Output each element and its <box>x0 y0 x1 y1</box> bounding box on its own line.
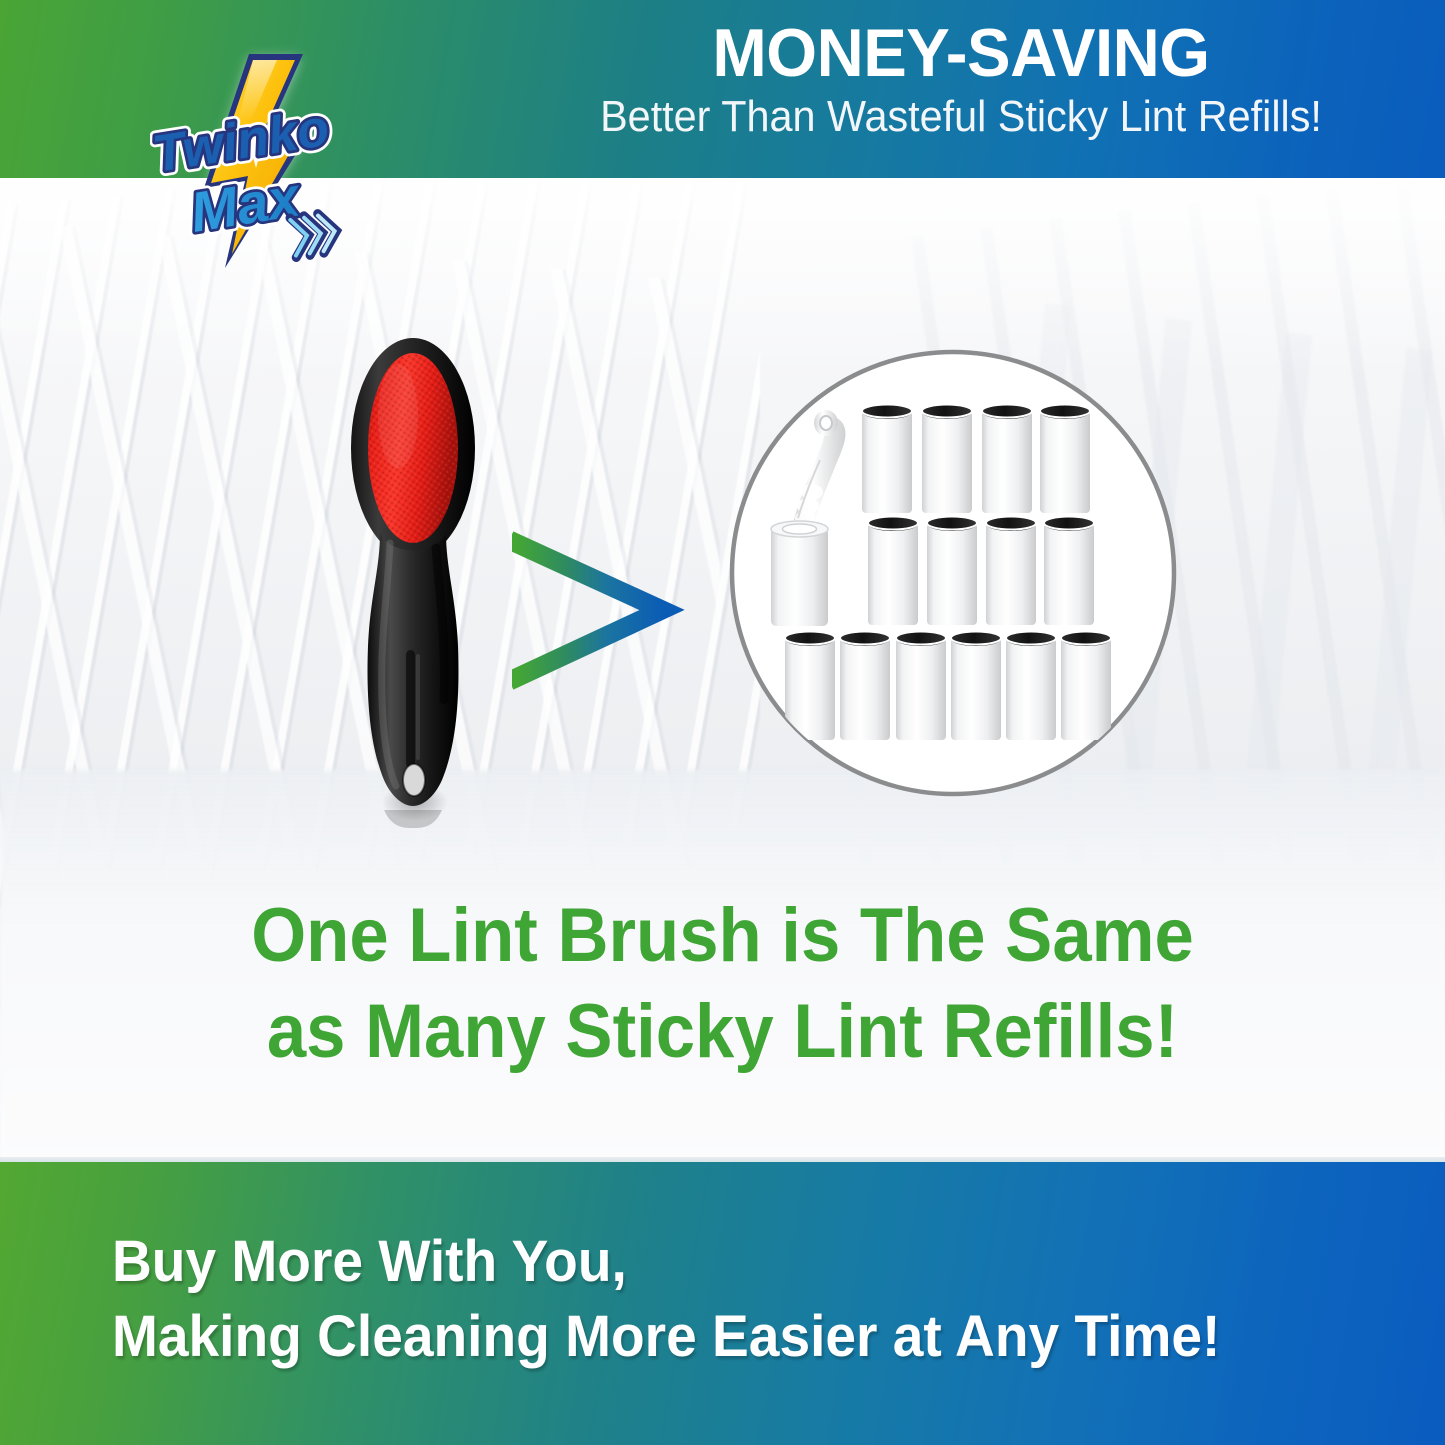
refill-roll <box>951 632 1001 741</box>
header-title: MONEY-SAVING <box>553 18 1369 89</box>
refills-circle-icon <box>728 348 1178 798</box>
bottom-banner-line-2: Making Cleaning More Easier at Any Time! <box>112 1299 1328 1374</box>
refill-roll <box>1040 405 1090 514</box>
refill-roll <box>982 405 1032 514</box>
lint-brush-icon <box>318 328 508 828</box>
refill-roll <box>986 517 1036 626</box>
refill-roll <box>922 405 972 514</box>
bottom-banner-text-block: Buy More With You, Making Cleaning More … <box>112 1224 1392 1375</box>
twinko-max-logo: Twinko Twinko Twinko Max Max Max <box>150 40 370 280</box>
product-marketing-poster: MONEY-SAVING Better Than Wasteful Sticky… <box>0 0 1445 1445</box>
green-headline-block: One Lint Brush is The Same as Many Stick… <box>0 888 1445 1080</box>
roller-handle-loop <box>820 416 832 430</box>
greater-than-icon <box>512 528 697 693</box>
refill-roll <box>785 632 835 741</box>
twinko-max-logo-icon: Twinko Twinko Twinko Max Max Max <box>150 40 370 280</box>
brush-reflection <box>384 810 442 828</box>
lint-brush <box>318 328 508 828</box>
header-text-block: MONEY-SAVING Better Than Wasteful Sticky… <box>536 8 1386 142</box>
refill-roll <box>1061 632 1111 741</box>
headline-line-2: as Many Sticky Lint Refills! <box>51 984 1395 1080</box>
bottom-banner: Buy More With You, Making Cleaning More … <box>0 1162 1445 1445</box>
refill-roll <box>868 517 918 626</box>
sticky-lint-refills-circle <box>728 348 1178 798</box>
refill-roll <box>862 405 912 514</box>
refill-roll <box>840 632 890 741</box>
refill-roll <box>1044 517 1094 626</box>
header-subtitle: Better Than Wasteful Sticky Lint Refills… <box>562 93 1361 141</box>
headline-line-1: One Lint Brush is The Same <box>51 888 1395 984</box>
refill-roll <box>927 517 977 626</box>
refill-roll <box>896 632 946 741</box>
bottom-banner-line-1: Buy More With You, <box>112 1224 1328 1299</box>
greater-than-symbol <box>512 528 697 693</box>
roller-drum <box>771 528 828 626</box>
refill-roll <box>1006 632 1056 741</box>
handle-grip-groove <box>406 650 415 768</box>
